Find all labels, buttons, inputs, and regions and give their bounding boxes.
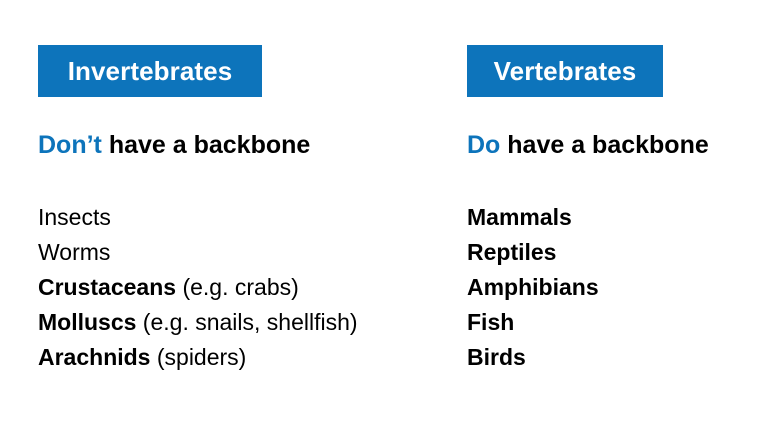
subtitle-rest-invertebrates: have a backbone bbox=[102, 131, 310, 159]
list-item: Molluscs (e.g. snails, shellfish) bbox=[38, 305, 358, 340]
subtitle-rest-vertebrates: have a backbone bbox=[500, 131, 708, 159]
column-invertebrates: Invertebrates Don’t have a backbone Inse… bbox=[38, 0, 458, 440]
subtitle-invertebrates: Don’t have a backbone bbox=[38, 130, 310, 160]
list-item: Worms bbox=[38, 235, 358, 270]
comparison-slide: Invertebrates Don’t have a backbone Inse… bbox=[0, 0, 778, 440]
subtitle-accent-vertebrates: Do bbox=[467, 131, 500, 159]
subtitle-vertebrates: Do have a backbone bbox=[467, 130, 709, 160]
list-item-name: Reptiles bbox=[467, 239, 556, 265]
header-box-vertebrates: Vertebrates bbox=[467, 45, 663, 97]
header-box-invertebrates: Invertebrates bbox=[38, 45, 262, 97]
list-item-name: Arachnids bbox=[38, 344, 150, 370]
list-item: Crustaceans (e.g. crabs) bbox=[38, 270, 358, 305]
list-item: Amphibians bbox=[467, 270, 599, 305]
list-item-name: Molluscs bbox=[38, 309, 136, 335]
list-item: Reptiles bbox=[467, 235, 599, 270]
list-invertebrates: Insects Worms Crustaceans (e.g. crabs) M… bbox=[38, 200, 358, 375]
list-item-note: (spiders) bbox=[150, 344, 246, 370]
list-item: Birds bbox=[467, 340, 599, 375]
header-label-invertebrates: Invertebrates bbox=[68, 58, 233, 84]
list-item-note: (e.g. snails, shellfish) bbox=[136, 309, 357, 335]
list-item: Insects bbox=[38, 200, 358, 235]
list-item-name: Birds bbox=[467, 344, 526, 370]
list-item-note: (e.g. crabs) bbox=[176, 274, 299, 300]
list-item-name: Insects bbox=[38, 204, 111, 230]
header-label-vertebrates: Vertebrates bbox=[494, 58, 637, 84]
list-item-name: Mammals bbox=[467, 204, 572, 230]
list-item: Fish bbox=[467, 305, 599, 340]
list-item-name: Amphibians bbox=[467, 274, 599, 300]
list-vertebrates: Mammals Reptiles Amphibians Fish Birds bbox=[467, 200, 599, 375]
list-item: Arachnids (spiders) bbox=[38, 340, 358, 375]
subtitle-accent-invertebrates: Don’t bbox=[38, 131, 102, 159]
column-vertebrates: Vertebrates Do have a backbone Mammals R… bbox=[467, 0, 767, 440]
list-item-name: Crustaceans bbox=[38, 274, 176, 300]
list-item-name: Fish bbox=[467, 309, 514, 335]
list-item: Mammals bbox=[467, 200, 599, 235]
list-item-name: Worms bbox=[38, 239, 110, 265]
